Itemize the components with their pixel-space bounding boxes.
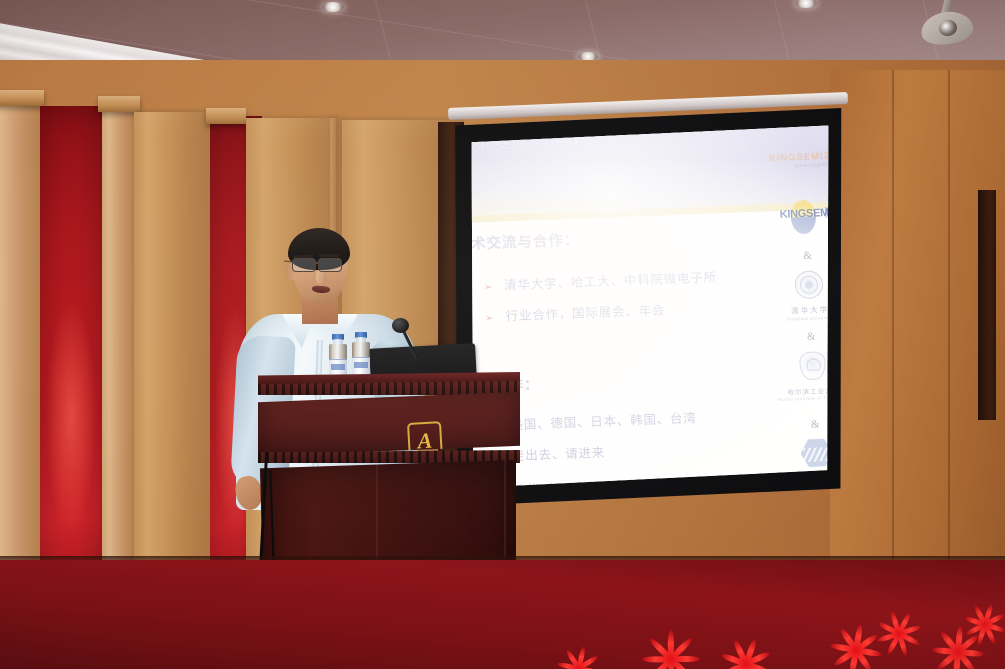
hit-seal-icon — [799, 351, 826, 380]
tsinghua-seal-icon — [795, 270, 824, 299]
poinsettia-flower — [555, 650, 603, 669]
microphone-icon[interactable] — [392, 318, 432, 360]
pillar-cap — [0, 90, 44, 106]
slide-bullet: ➢ 行业合作，国际展会、年会 — [485, 299, 666, 325]
nose — [316, 270, 327, 285]
bullet-marker-icon: ➢ — [485, 313, 495, 324]
presentation-photo: 对外交流、合作 KINGSEMI芯源 www.kingsemi.com 技术交流… — [0, 0, 1005, 669]
ceiling-light — [322, 2, 344, 12]
slide-bullet-text: 走出去、请进来 — [512, 446, 606, 464]
poinsettia-flower — [640, 636, 702, 669]
wood-panel — [102, 104, 134, 620]
bullet-marker-icon: ➢ — [484, 282, 494, 293]
slide-bullet: ➢ 美国、德国、日本、韩国、台湾 — [490, 407, 697, 434]
poinsettia-flower — [874, 614, 924, 648]
red-wall-panel — [40, 106, 102, 620]
eyebrow-right — [319, 254, 339, 258]
pillar-cap — [206, 108, 246, 124]
slide-bullet: ➢ 清华大学、哈工大、中科院微电子所 — [484, 266, 718, 294]
ceiling-light — [795, 0, 817, 8]
slide-bullet-text: 行业合作，国际展会、年会 — [506, 303, 666, 323]
pillar-cap — [98, 96, 140, 112]
poinsettia-flower — [718, 642, 774, 669]
eyeglasses-icon — [290, 258, 350, 271]
ceiling-camera-icon — [913, 0, 983, 46]
slide-bullet-text: 清华大学、哈工大、中科院微电子所 — [504, 270, 717, 292]
slide-section-heading: 技术交流与合作： — [455, 229, 580, 255]
slide-bullet-text: 美国、德国、日本、韩国、台湾 — [511, 411, 698, 432]
lectern-front-panel: A — [258, 392, 520, 456]
wall-recess — [978, 190, 996, 420]
poinsettia-flower — [962, 606, 1005, 638]
lectern-emblem-glyph: A — [417, 430, 433, 453]
wood-panel — [134, 112, 210, 620]
wood-panel — [0, 98, 40, 620]
